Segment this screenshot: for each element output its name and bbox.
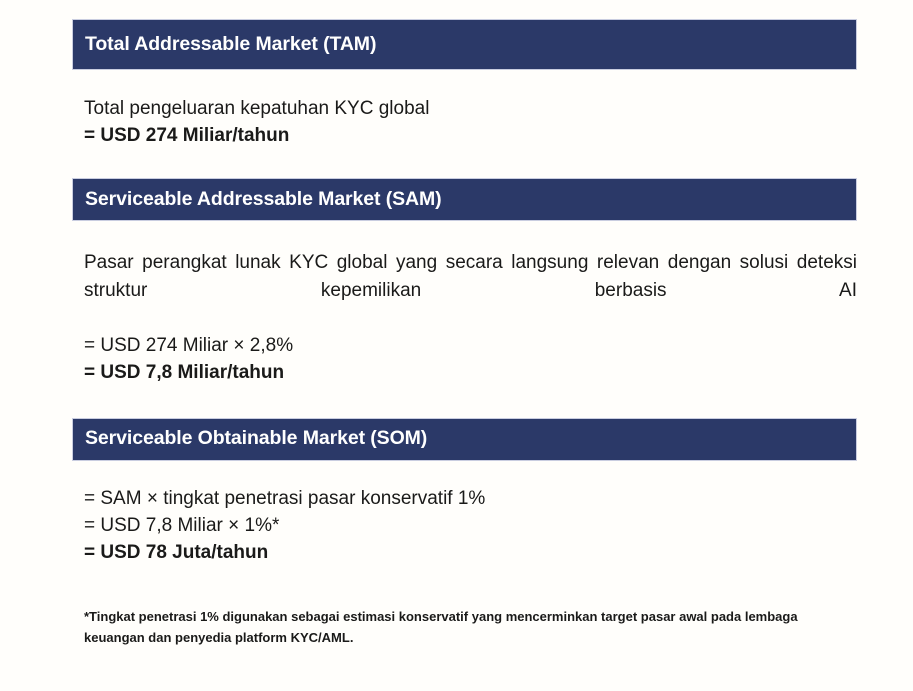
spacer-sam [72,221,857,249]
section-title-tam: Total Addressable Market (TAM) [85,34,376,55]
section-body-som: = SAM × tingkat penetrasi pasar konserva… [72,485,857,566]
spacer-after-sam [72,386,857,418]
section-header-sam: Serviceable Addressable Market (SAM) [72,178,857,221]
section-title-som: Serviceable Obtainable Market (SOM) [85,428,427,449]
som-line-3: = USD 78 Juta/tahun [84,539,857,566]
tam-line-2: = USD 274 Miliar/tahun [84,122,857,149]
som-line-1: = SAM × tingkat penetrasi pasar konserva… [84,485,857,512]
section-header-tam: Total Addressable Market (TAM) [72,19,857,70]
spacer-footnote [72,566,857,606]
section-header-som: Serviceable Obtainable Market (SOM) [72,418,857,461]
som-line-2: = USD 7,8 Miliar × 1%* [84,512,857,539]
section-body-sam: Pasar perangkat lunak KYC global yang se… [72,249,857,386]
tam-line-1: Total pengeluaran kepatuhan KYC global [84,95,857,122]
section-title-sam: Serviceable Addressable Market (SAM) [85,189,442,210]
sam-line-2: = USD 7,8 Miliar/tahun [84,359,857,386]
document-content: Total Addressable Market (TAM) Total pen… [72,19,857,648]
spacer-after-tam [72,149,857,178]
market-sizing-document: Total Addressable Market (TAM) Total pen… [0,0,913,691]
sam-paragraph: Pasar perangkat lunak KYC global yang se… [84,249,857,332]
footnote-text: *Tingkat penetrasi 1% digunakan sebagai … [72,606,857,648]
sam-line-1: = USD 274 Miliar × 2,8% [84,332,857,359]
spacer-tam [72,70,857,95]
section-body-tam: Total pengeluaran kepatuhan KYC global =… [72,95,857,149]
spacer-som [72,461,857,485]
